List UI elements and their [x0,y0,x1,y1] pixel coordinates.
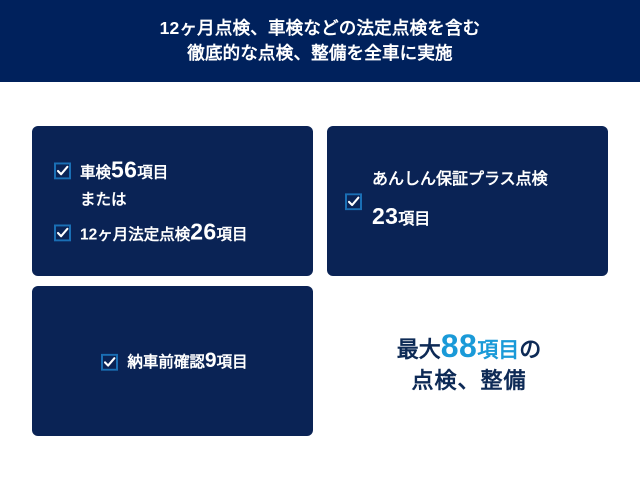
warranty-text-block: あんしん保証プラス点検 23項目 [372,168,548,234]
warranty-line-1: あんしん保証プラス点検 [372,168,548,191]
summary-line-1: 最大88項目の [330,326,608,367]
header-banner: 12ヶ月点検、車検などの法定点検を含む 徹底的な点検、整備を全車に実施 [0,0,640,82]
predelivery-row-group: 納車前確認9項目 [32,346,313,376]
warranty-unit: 項目 [398,211,430,228]
card-warranty-plus-inspection: あんしん保証プラス点検 23項目 [327,126,608,276]
warranty-line-2: 23項目 [372,200,548,233]
card-predelivery-check: 納車前確認9項目 [32,286,313,436]
inspection-row-3-number: 26 [190,218,216,244]
predelivery-number: 9 [205,349,217,372]
predelivery-suffix: 項目 [217,354,248,371]
inspection-row-2-label: または [80,190,127,212]
warranty-row-group: あんしん保証プラス点検 23項目 [345,168,596,234]
checkbox-checked-icon [54,224,71,241]
inspection-row-3-prefix: 12ヶ月法定点検 [80,226,190,243]
inspection-row-1-prefix: 車検 [80,164,111,181]
header-title-line-2: 徹底的な点検、整備を全車に実施 [187,41,453,66]
inspection-row-group: 車検56項目 または 12ヶ月法定点検26項目 [54,150,299,251]
checkbox-checked-icon [101,354,118,371]
header-title-line-1: 12ヶ月点検、車検などの法定点検を含む [160,16,481,41]
summary-prefix: 最大 [397,337,441,362]
summary-line-2: 点検、整備 [330,367,608,395]
inspection-row-3-suffix: 項目 [216,226,247,243]
summary-connector: の [519,337,541,362]
list-item: 12ヶ月法定点検26項目 [54,215,299,248]
inspection-row-1-suffix: 項目 [137,164,168,181]
inspection-row-1-number: 56 [111,156,137,182]
list-item: 車検56項目 [54,153,299,186]
inspection-row-3-label: 12ヶ月法定点検26項目 [80,215,247,248]
list-item-separator: または [54,190,299,212]
summary-number: 88 [441,328,478,364]
card-statutory-inspection: 車検56項目 または 12ヶ月法定点検26項目 [32,126,313,276]
predelivery-label: 納車前確認9項目 [127,346,247,376]
checkbox-checked-icon [54,163,71,180]
summary-total-items: 最大88項目の 点検、整備 [330,326,608,395]
summary-unit: 項目 [477,339,519,362]
warranty-number: 23 [372,203,398,229]
checkbox-checked-icon [345,194,362,211]
summary-highlight: 88項目 [441,337,520,362]
inspection-row-1-label: 車検56項目 [80,153,168,186]
predelivery-prefix: 納車前確認 [127,354,205,371]
